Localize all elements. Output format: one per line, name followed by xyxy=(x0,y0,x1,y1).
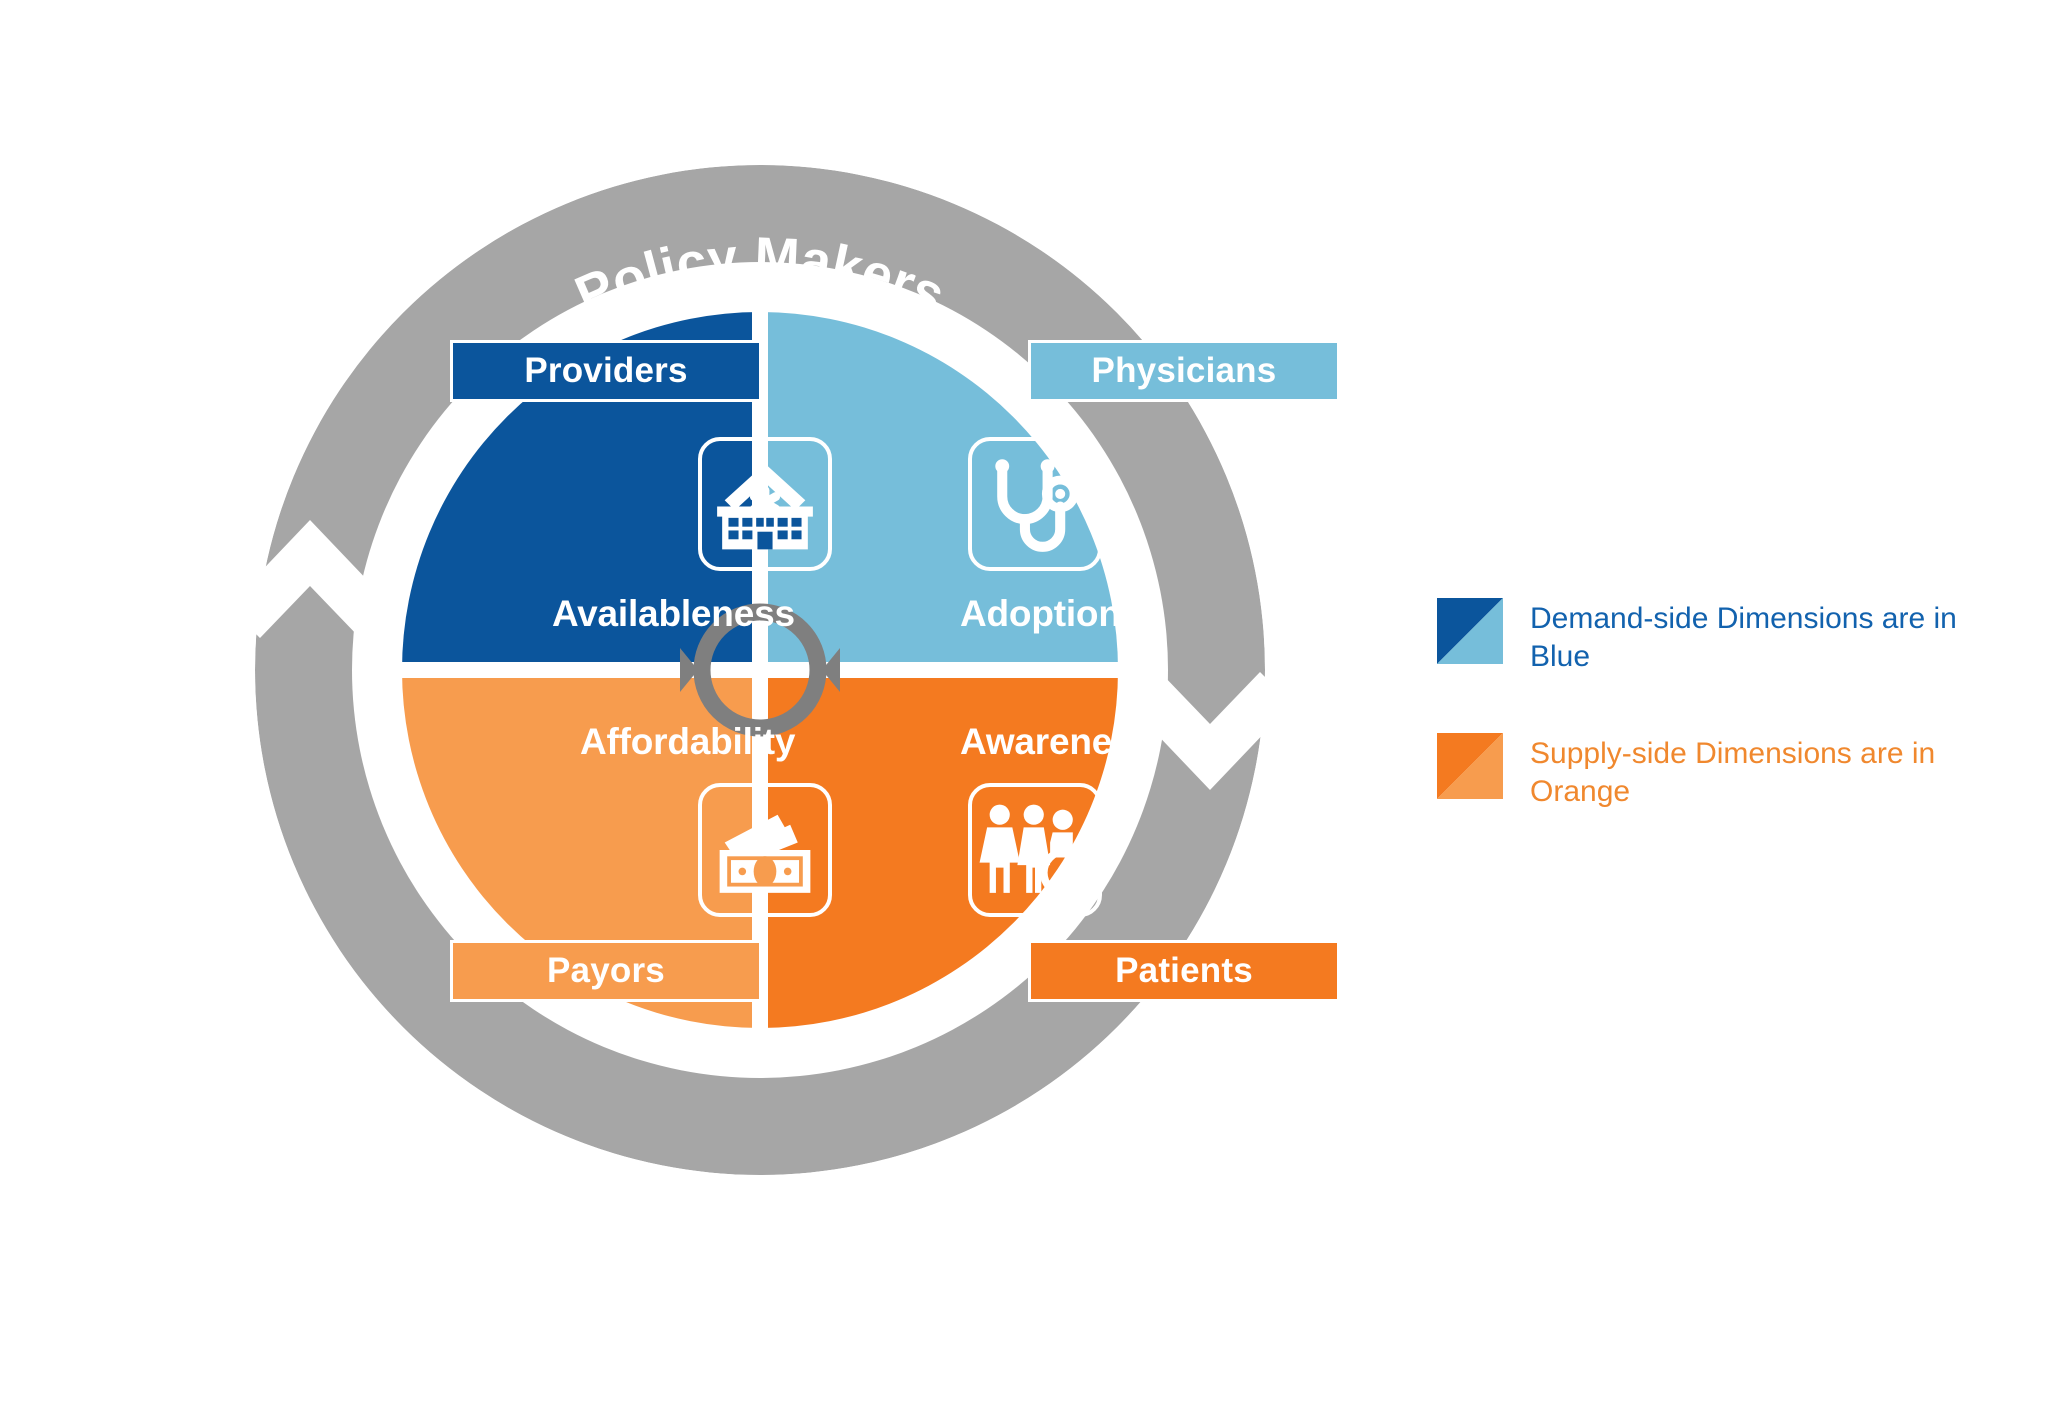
legend-swatch-orange xyxy=(1437,733,1503,799)
dimension-label-adoption: Adoption xyxy=(960,595,1121,632)
dimension-label-awareness: Awareness xyxy=(960,723,1153,760)
legend-swatch-blue xyxy=(1437,598,1503,664)
dimension-label-availableness: Availableness xyxy=(552,595,795,632)
legend-label-supply-side: Supply-side Dimensions are in Orange xyxy=(1530,733,1997,812)
legend-label-demand-side: Demand-side Dimensions are in Blue xyxy=(1530,598,1997,677)
diagram-canvas: Policy Makers Availableness xyxy=(0,0,2048,1420)
people-icon xyxy=(972,787,1098,913)
money-icon xyxy=(702,787,828,913)
stakeholder-banner-patients[interactable]: Patients xyxy=(1028,940,1340,1002)
hospital-icon xyxy=(702,441,828,567)
stakeholder-banner-providers[interactable]: Providers xyxy=(450,340,762,402)
legend-item-demand-side: Demand-side Dimensions are in Blue xyxy=(1437,598,1997,677)
legend: Demand-side Dimensions are in Blue Suppl… xyxy=(1437,598,1997,868)
icon-tile-patients[interactable] xyxy=(968,783,1102,917)
icon-tile-physicians[interactable] xyxy=(968,437,1102,571)
dimension-label-affordability: Affordability xyxy=(580,723,795,760)
stakeholder-banner-payors[interactable]: Payors xyxy=(450,940,762,1002)
stakeholder-banner-physicians[interactable]: Physicians xyxy=(1028,340,1340,402)
stethoscope-icon xyxy=(972,441,1098,567)
legend-item-supply-side: Supply-side Dimensions are in Orange xyxy=(1437,733,1997,812)
icon-tile-payors[interactable] xyxy=(698,783,832,917)
healthcare-access-wheel-diagram: Policy Makers Availableness xyxy=(120,20,1400,1340)
icon-tile-providers[interactable] xyxy=(698,437,832,571)
